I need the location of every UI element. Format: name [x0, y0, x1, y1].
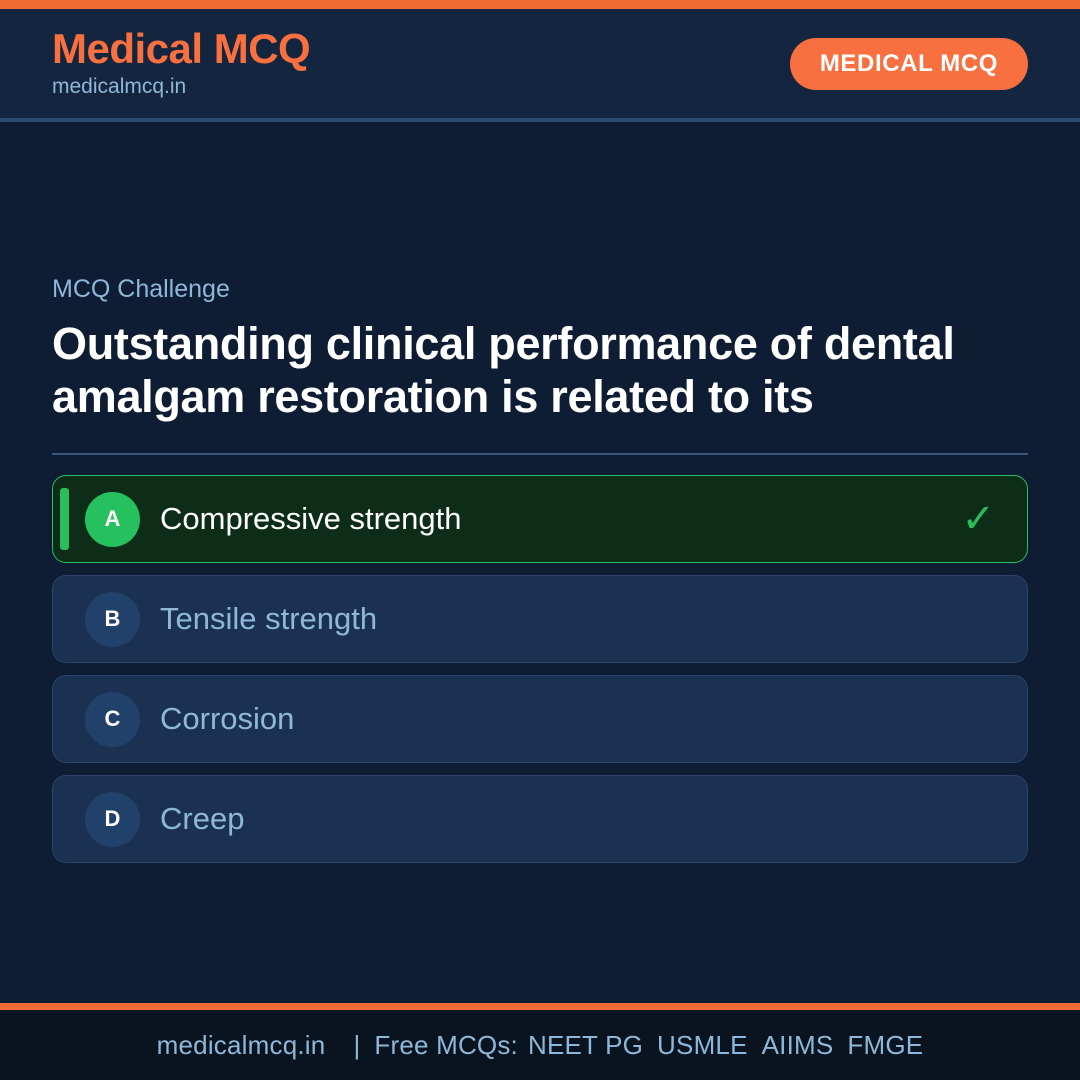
option-a-badge: A — [85, 492, 140, 547]
brand-subtitle: medicalmcq.in — [52, 74, 310, 100]
footer-accent-rule — [0, 1003, 1080, 1010]
question-divider — [52, 453, 1028, 455]
header-badge: MEDICAL MCQ — [790, 38, 1028, 90]
footer-exam-fmge: FMGE — [847, 1030, 923, 1061]
top-accent-rule — [0, 0, 1080, 9]
footer-label: Free MCQs: — [374, 1030, 518, 1061]
check-icon: ✓ — [961, 499, 995, 539]
options-list: A Compressive strength ✓ B Tensile stren… — [52, 475, 1028, 863]
footer-exam-usmle: USMLE — [657, 1030, 748, 1061]
option-d-badge: D — [85, 792, 140, 847]
footer-separator: | — [353, 1030, 360, 1061]
option-d[interactable]: D Creep ✓ — [52, 775, 1028, 863]
option-c[interactable]: C Corrosion ✓ — [52, 675, 1028, 763]
content-area: MCQ Challenge Outstanding clinical perfo… — [0, 122, 1080, 1003]
option-c-label: Corrosion — [160, 702, 961, 736]
eyebrow-label: MCQ Challenge — [52, 274, 1028, 304]
correct-accent-bar — [60, 488, 69, 550]
footer-exam-aiims: AIIMS — [762, 1030, 834, 1061]
footer-site: medicalmcq.in — [157, 1030, 326, 1061]
option-a[interactable]: A Compressive strength ✓ — [52, 475, 1028, 563]
option-b-label: Tensile strength — [160, 602, 961, 636]
question-text: Outstanding clinical performance of dent… — [52, 318, 1028, 423]
option-c-badge: C — [85, 692, 140, 747]
option-a-label: Compressive strength — [160, 502, 961, 536]
option-b-badge: B — [85, 592, 140, 647]
footer-bar: medicalmcq.in | Free MCQs: NEET PG USMLE… — [0, 1010, 1080, 1080]
mcq-card: Medical MCQ medicalmcq.in MEDICAL MCQ MC… — [0, 0, 1080, 1080]
option-b[interactable]: B Tensile strength ✓ — [52, 575, 1028, 663]
footer-exam-neetpg: NEET PG — [528, 1030, 643, 1061]
header-bar: Medical MCQ medicalmcq.in MEDICAL MCQ — [0, 9, 1080, 122]
option-d-label: Creep — [160, 802, 961, 836]
brand-title: Medical MCQ — [52, 27, 310, 72]
brand-block: Medical MCQ medicalmcq.in — [52, 27, 310, 100]
